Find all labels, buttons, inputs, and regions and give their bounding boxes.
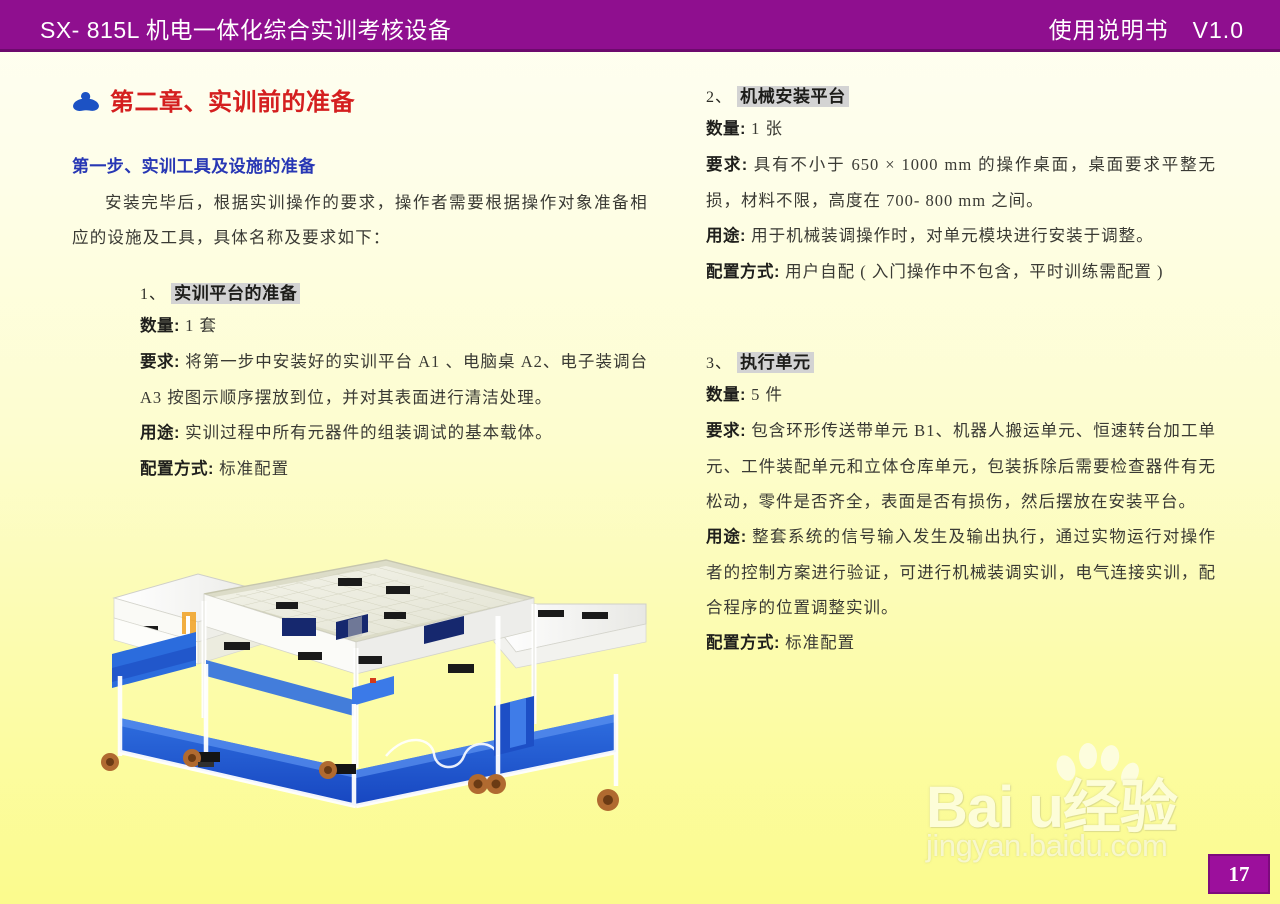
item-2-field-config: 配置方式: 用户自配 ( 入门操作中不包含，平时训练需配置 ) xyxy=(706,254,1216,290)
item-3-title-row: 3、 执行单元 xyxy=(706,348,1216,373)
field-label: 用途: xyxy=(706,528,747,546)
item-1-name: 实训平台的准备 xyxy=(171,283,300,304)
item-2-field-requirement: 要求: 具有不小于 650 × 1000 mm 的操作桌面，桌面要求平整无损，材… xyxy=(706,147,1216,218)
item-2-title-row: 2、 机械安装平台 xyxy=(706,82,1216,107)
step-paragraph: 安装完毕后，根据实训操作的要求，操作者需要根据操作对象准备相应的设施及工具，具体… xyxy=(72,185,648,255)
field-value: 标准配置 xyxy=(214,459,289,478)
caster-wheel xyxy=(101,753,119,771)
field-label: 要求: xyxy=(706,156,748,174)
watermark-url: jingyan.baidu.com xyxy=(926,828,1167,864)
field-label: 用途: xyxy=(706,227,746,245)
field-label: 数量: xyxy=(140,317,180,335)
document-page: SX- 815L 机电一体化综合实训考核设备 使用说明书 V1.0 第二章、实训… xyxy=(0,0,1280,904)
field-value: 5 件 xyxy=(746,385,783,404)
watermark-brand: Bai u经验 xyxy=(926,760,1177,844)
field-value: 包含环形传送带单元 B1、机器人搬运单元、恒速转台加工单元、工件装配单元和立体仓… xyxy=(706,421,1216,511)
item-block-3: 3、 执行单元 数量: 5 件 要求: 包含环形传送带单元 B1、机器人搬运单元… xyxy=(706,348,1216,661)
paw-print-icon xyxy=(1046,742,1142,802)
field-value: 整套系统的信号输入发生及输出执行，通过实物运行对操作者的控制方案进行验证，可进行… xyxy=(706,527,1216,617)
item-3-field-requirement: 要求: 包含环形传送带单元 B1、机器人搬运单元、恒速转台加工单元、工件装配单元… xyxy=(706,413,1216,519)
field-value: 标准配置 xyxy=(780,633,855,652)
left-column: 第二章、实训前的准备 第一步、实训工具及设施的准备 安装完毕后，根据实训操作的要… xyxy=(72,82,648,487)
header-manual-version: 使用说明书 V1.0 xyxy=(1049,11,1244,45)
field-value: 用户自配 ( 入门操作中不包含，平时训练需配置 ) xyxy=(780,262,1164,281)
item-3-number: 3、 xyxy=(706,355,732,372)
field-value: 1 张 xyxy=(746,119,783,138)
cloud-bullet-icon xyxy=(72,91,100,113)
field-label: 数量: xyxy=(706,120,746,138)
step-heading: 第一步、实训工具及设施的准备 xyxy=(72,152,648,177)
field-label: 数量: xyxy=(706,386,746,404)
item-1-field-requirement: 要求: 将第一步中安装好的实训平台 A1 、电脑桌 A2、电子装调台 A3 按图… xyxy=(140,344,648,415)
field-label: 配置方式: xyxy=(140,460,214,478)
baidu-watermark: Bai u经验 jingyan.baidu.com xyxy=(918,742,1218,872)
item-2-name: 机械安装平台 xyxy=(737,86,849,107)
item-block-2: 2、 机械安装平台 数量: 1 张 要求: 具有不小于 650 × 1000 m… xyxy=(706,82,1216,290)
item-2-field-purpose: 用途: 用于机械装调操作时，对单元模块进行安装于调整。 xyxy=(706,218,1216,254)
chapter-title: 第二章、实训前的准备 xyxy=(110,82,355,117)
item-1-number: 1、 xyxy=(140,286,166,303)
field-label: 配置方式: xyxy=(706,634,780,652)
field-value: 具有不小于 650 × 1000 mm 的操作桌面，桌面要求平整无损，材料不限，… xyxy=(706,155,1216,210)
item-3-field-purpose: 用途: 整套系统的信号输入发生及输出执行，通过实物运行对操作者的控制方案进行验证… xyxy=(706,519,1216,625)
item-2-number: 2、 xyxy=(706,89,732,106)
field-label: 配置方式: xyxy=(706,263,780,281)
field-label: 用途: xyxy=(140,424,180,442)
item-1-title-row: 1、 实训平台的准备 xyxy=(140,279,648,304)
field-value: 实训过程中所有元器件的组装调试的基本载体。 xyxy=(180,423,553,442)
field-value: 用于机械装调操作时，对单元模块进行安装于调整。 xyxy=(746,226,1154,245)
caster-wheel xyxy=(597,789,619,811)
chapter-heading: 第二章、实训前的准备 xyxy=(72,82,648,118)
field-value: 将第一步中安装好的实训平台 A1 、电脑桌 A2、电子装调台 A3 按图示顺序摆… xyxy=(140,352,648,407)
right-column: 2、 机械安装平台 数量: 1 张 要求: 具有不小于 650 × 1000 m… xyxy=(706,82,1216,661)
field-label: 要求: xyxy=(140,353,180,371)
training-platform-illustration xyxy=(86,556,652,846)
column-spacer xyxy=(706,290,1216,348)
page-number-badge: 17 xyxy=(1208,854,1270,894)
item-1-field-config: 配置方式: 标准配置 xyxy=(140,451,648,487)
item-block-1: 1、 实训平台的准备 数量: 1 套 要求: 将第一步中安装好的实训平台 A1 … xyxy=(72,279,648,487)
page-header-bar: SX- 815L 机电一体化综合实训考核设备 使用说明书 V1.0 xyxy=(0,0,1280,52)
item-2-field-quantity: 数量: 1 张 xyxy=(706,111,1216,147)
item-3-field-quantity: 数量: 5 件 xyxy=(706,377,1216,413)
field-value: 1 套 xyxy=(180,316,217,335)
item-3-name: 执行单元 xyxy=(737,352,813,373)
field-label: 要求: xyxy=(706,422,746,440)
item-3-field-config: 配置方式: 标准配置 xyxy=(706,625,1216,661)
item-1-field-quantity: 数量: 1 套 xyxy=(140,308,648,344)
item-1-field-purpose: 用途: 实训过程中所有元器件的组装调试的基本载体。 xyxy=(140,415,648,451)
header-title: SX- 815L 机电一体化综合实训考核设备 xyxy=(40,11,451,45)
